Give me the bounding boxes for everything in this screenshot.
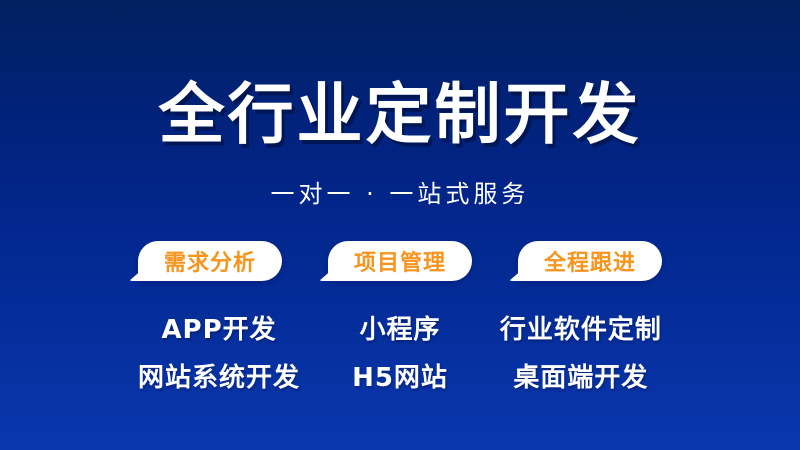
promo-banner: 全行业定制开发 一对一 · 一站式服务 需求分析 项目管理 全程跟进 APP开发…	[0, 0, 800, 450]
badge-label: 全程跟进	[544, 245, 636, 277]
service-line: 小程序	[359, 309, 440, 346]
subtitle: 一对一 · 一站式服务	[271, 174, 530, 209]
service-line: APP开发	[161, 309, 276, 346]
service-line: 网站系统开发	[138, 357, 300, 394]
badge-label: 需求分析	[164, 245, 256, 277]
service-column-app: APP开发 网站系统开发	[138, 309, 300, 394]
service-line: H5网站	[352, 357, 448, 394]
service-line: 桌面端开发	[513, 357, 648, 394]
title-container: 全行业定制开发	[159, 82, 642, 148]
badge-requirement-analysis[interactable]: 需求分析	[138, 241, 282, 281]
badge-row: 需求分析 项目管理 全程跟进	[138, 241, 662, 281]
badge-label: 项目管理	[354, 245, 446, 277]
page-title: 全行业定制开发	[159, 82, 642, 148]
service-columns: APP开发 网站系统开发 小程序 H5网站 行业软件定制 桌面端开发	[138, 309, 662, 394]
service-column-software: 行业软件定制 桌面端开发	[500, 309, 662, 394]
badge-project-management[interactable]: 项目管理	[328, 241, 472, 281]
service-line: 行业软件定制	[500, 309, 662, 346]
service-column-miniprogram: 小程序 H5网站	[352, 309, 448, 394]
badge-full-process-tracking[interactable]: 全程跟进	[518, 241, 662, 281]
